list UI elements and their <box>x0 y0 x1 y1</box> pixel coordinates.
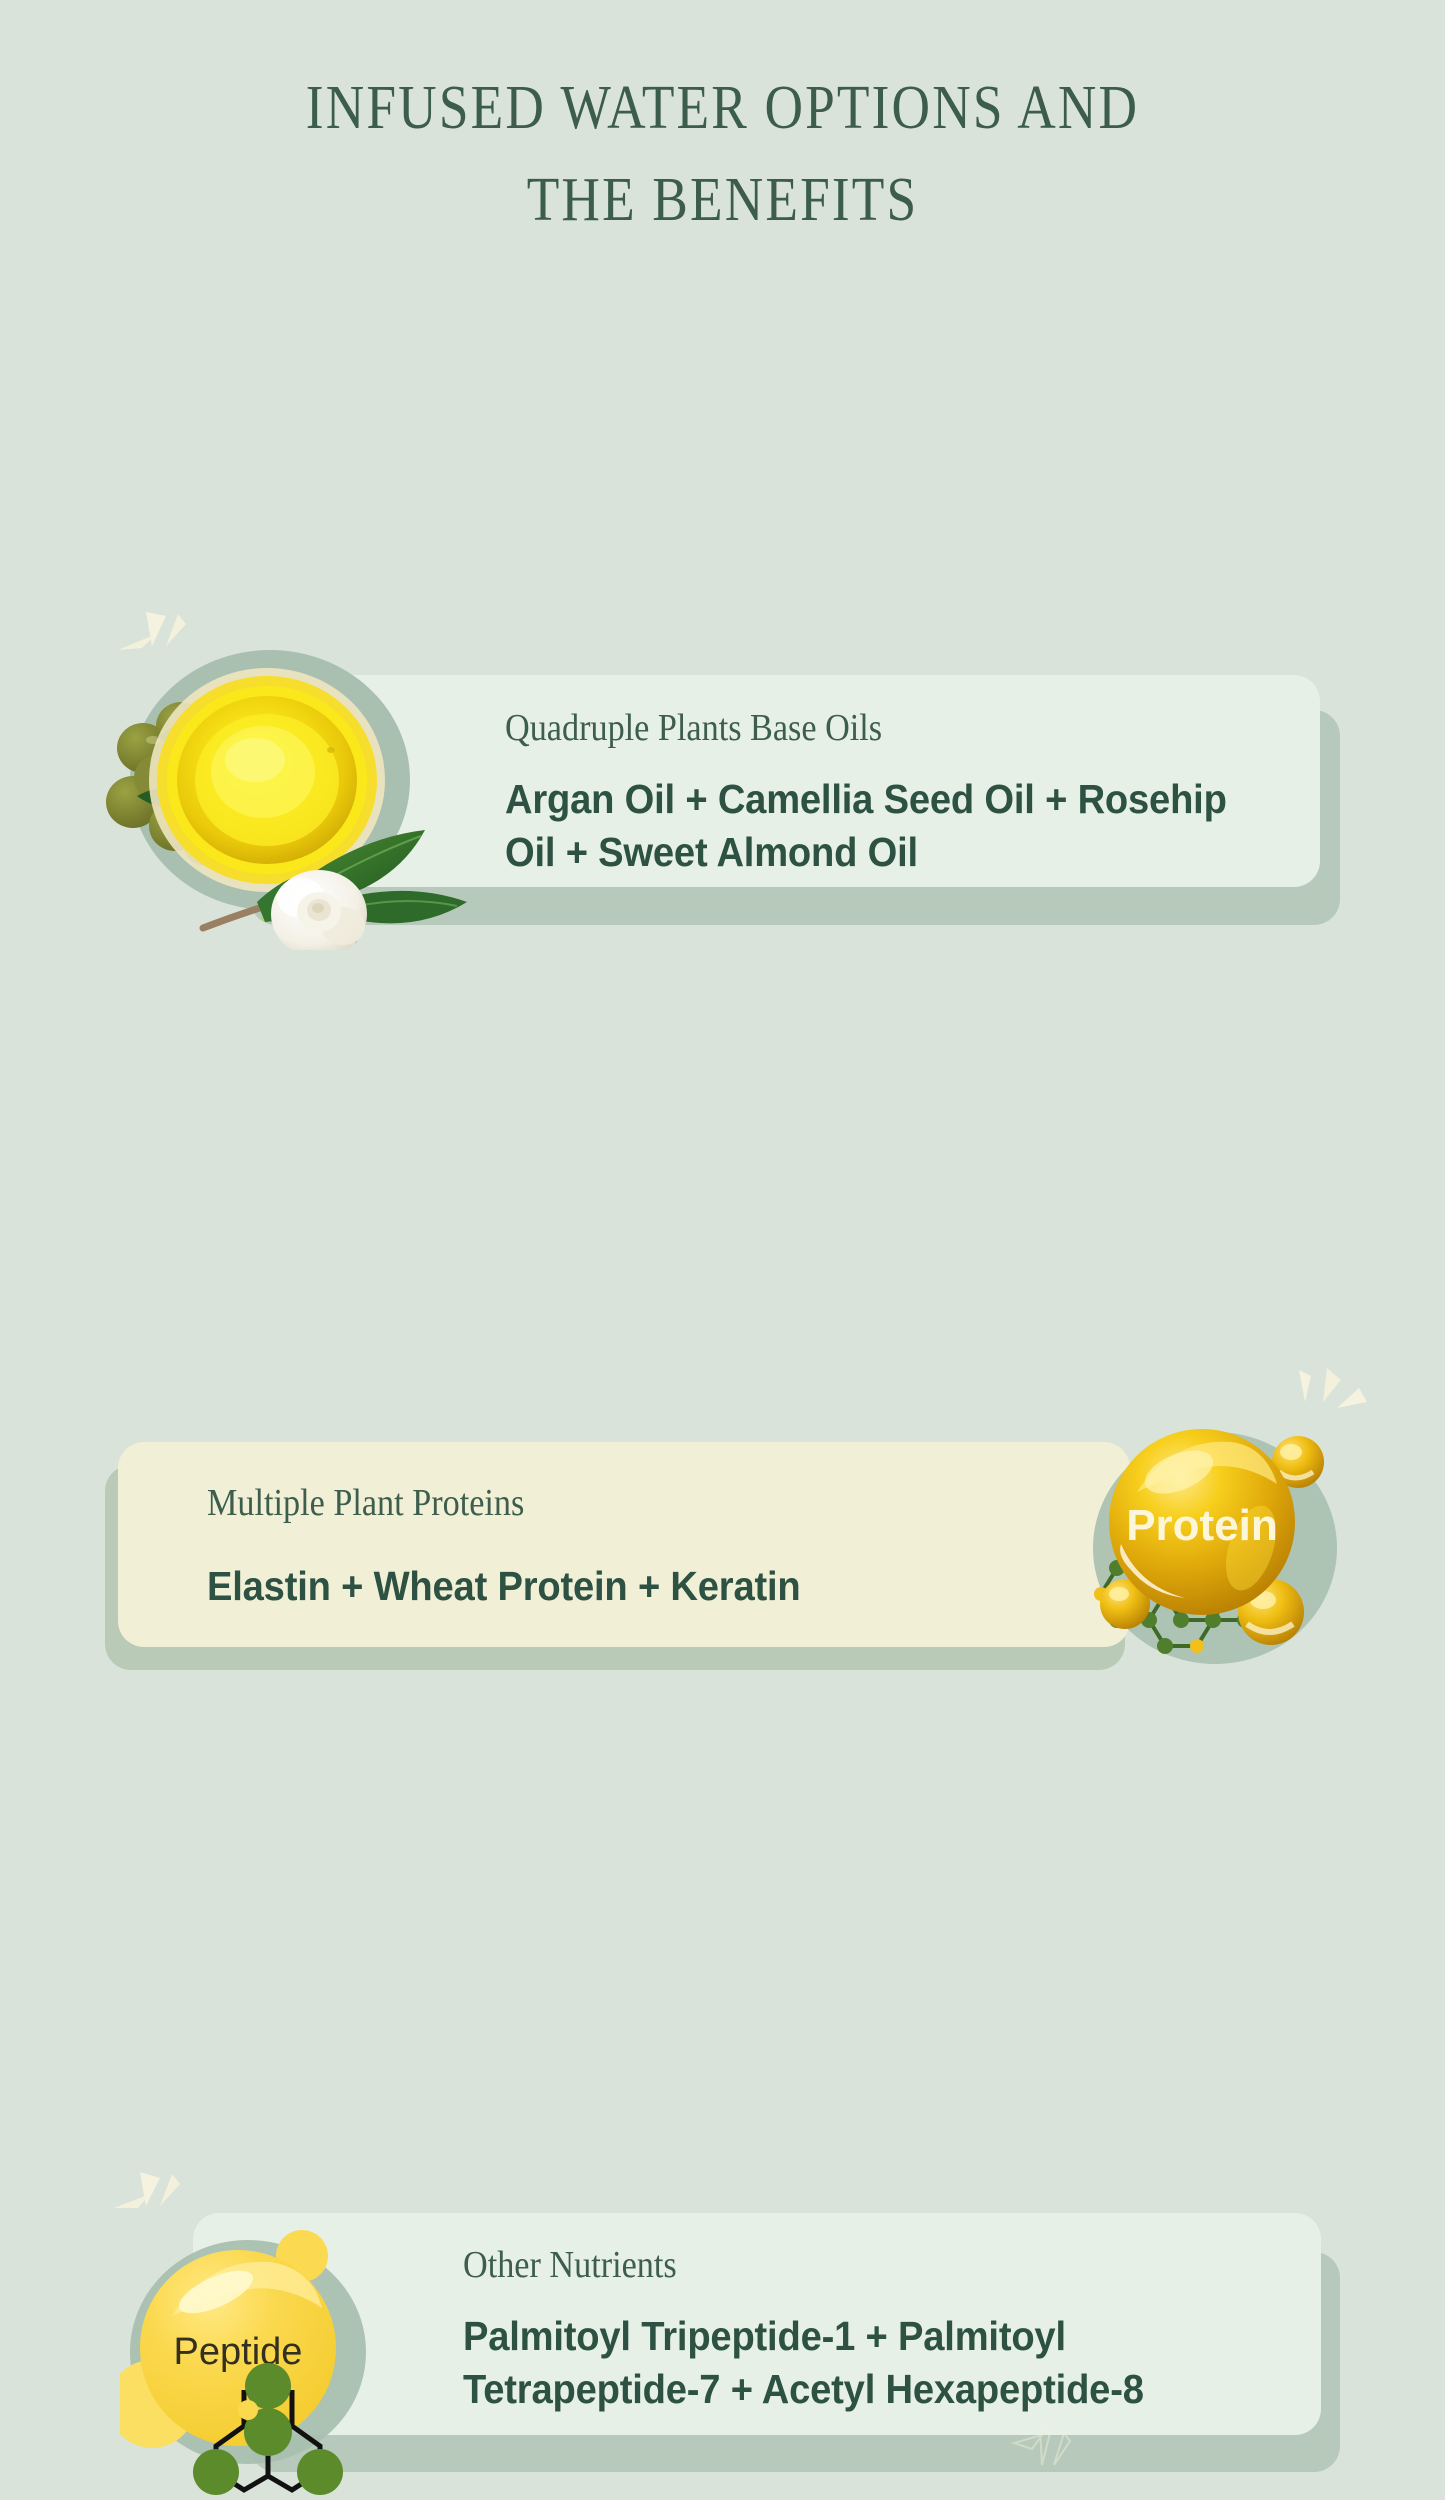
protein-droplet-label: Protein <box>1126 1501 1278 1550</box>
protein-droplet: Protein <box>1109 1429 1295 1615</box>
card-quadruple-plants-base-oils: Quadruple Plants Base Oils Argan Oil + C… <box>0 300 1445 660</box>
page-title-line-1: INFUSED WATER OPTIONS AND <box>101 62 1344 154</box>
peptide-sphere-label: Peptide <box>174 2331 303 2373</box>
olive-oil-bowl-camellia-image <box>95 630 495 950</box>
protein-droplet-molecule-image: Protein <box>1055 1380 1375 1690</box>
card-text-block: Quadruple Plants Base Oils Argan Oil + C… <box>505 705 1325 879</box>
page-title: INFUSED WATER OPTIONS AND THE BENEFITS <box>0 62 1445 246</box>
peptide-sphere-molecule-image: Peptide <box>120 2200 430 2500</box>
card-subtitle: Other Nutrients <box>463 2242 1228 2288</box>
card-body: Elastin + Wheat Protein + Keratin <box>207 1560 998 1613</box>
card-subtitle: Multiple Plant Proteins <box>207 1480 972 1526</box>
peptide-sphere: Peptide <box>140 2250 336 2446</box>
card-text-block: Other Nutrients Palmitoyl Tripeptide-1 +… <box>463 2242 1313 2416</box>
card-subtitle: Quadruple Plants Base Oils <box>505 705 1243 751</box>
page-title-line-2: THE BENEFITS <box>101 154 1344 246</box>
card-body: Palmitoyl Tripeptide-1 + Palmitoyl Tetra… <box>463 2310 1254 2416</box>
card-body: Argan Oil + Camellia Seed Oil + Rosehip … <box>505 773 1268 879</box>
card-text-block: Multiple Plant Proteins Elastin + Wheat … <box>207 1480 1057 1613</box>
